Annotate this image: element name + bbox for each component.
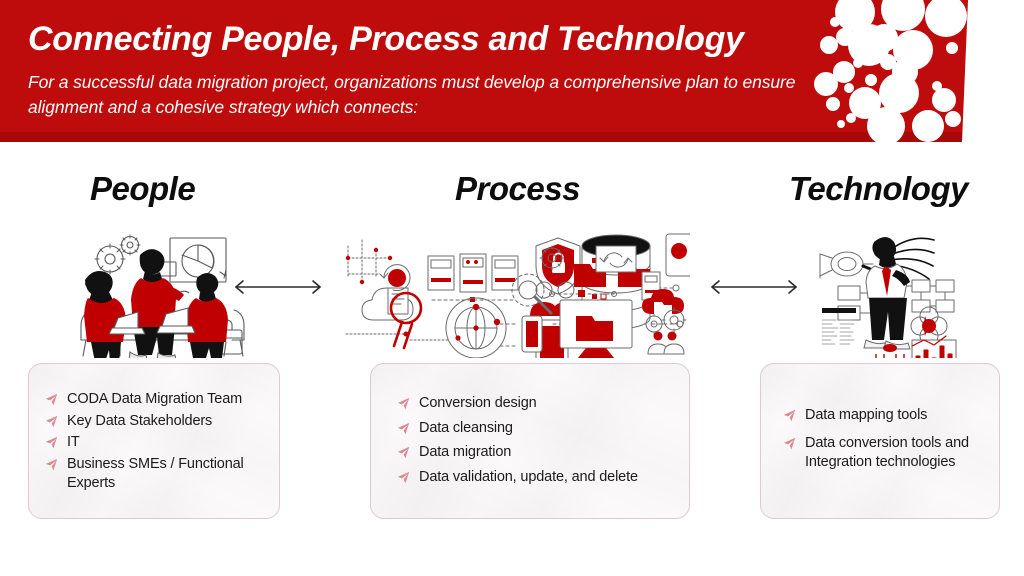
card-people: CODA Data Migration Team Key Data Stakeh…: [28, 363, 280, 519]
list-item: Key Data Stakeholders: [45, 412, 279, 432]
bullet-list-process: Conversion design Data cleansing Data mi…: [371, 364, 689, 487]
list-item-label: Data cleansing: [419, 419, 513, 439]
double-arrow-horizontal-icon: [706, 276, 802, 298]
header-banner: Connecting People, Process and Technolog…: [0, 0, 1024, 146]
list-item-label: Business SMEs / Functional Experts: [67, 455, 279, 494]
list-item-label: Data validation, update, and delete: [419, 468, 638, 488]
paper-plane-icon: [397, 446, 419, 459]
list-item-label: Data migration: [419, 443, 511, 463]
card-process: Conversion design Data cleansing Data mi…: [370, 363, 690, 519]
paper-plane-icon: [783, 437, 805, 450]
technology-person-illustration: [812, 228, 962, 358]
paper-plane-icon: [397, 397, 419, 410]
list-item: CODA Data Migration Team: [45, 390, 279, 410]
list-item: Data conversion tools and Integration te…: [783, 434, 999, 473]
paper-plane-icon: [45, 458, 67, 471]
paper-plane-icon: [45, 415, 67, 428]
card-technology: Data mapping tools Data conversion tools…: [760, 363, 1000, 519]
paper-plane-icon: [397, 422, 419, 435]
paper-plane-icon: [45, 393, 67, 406]
column-heading-process: Process: [455, 170, 580, 208]
list-item: Data mapping tools: [783, 406, 999, 426]
list-item: Data cleansing: [397, 419, 689, 439]
column-heading-technology: Technology: [789, 170, 968, 208]
data-infrastructure-illustration-right: [500, 228, 690, 358]
list-item-label: Data mapping tools: [805, 406, 927, 426]
column-heading-people: People: [90, 170, 195, 208]
bullet-list-technology: Data mapping tools Data conversion tools…: [761, 364, 999, 473]
list-item-label: Conversion design: [419, 394, 537, 414]
list-item: Data migration: [397, 443, 689, 463]
banner-text-block: Connecting People, Process and Technolog…: [28, 20, 828, 121]
paper-plane-icon: [783, 409, 805, 422]
list-item-label: Data conversion tools and Integration te…: [805, 434, 999, 473]
paper-plane-icon: [397, 471, 419, 484]
list-item: Data validation, update, and delete: [397, 468, 689, 488]
list-item: Conversion design: [397, 394, 689, 414]
list-item: IT: [45, 433, 279, 453]
double-arrow-horizontal-icon: [230, 276, 326, 298]
list-item-label: CODA Data Migration Team: [67, 390, 242, 410]
list-item: Business SMEs / Functional Experts: [45, 455, 279, 494]
paper-plane-icon: [45, 436, 67, 449]
list-item-label: IT: [67, 433, 80, 453]
bullet-list-people: CODA Data Migration Team Key Data Stakeh…: [29, 364, 279, 494]
list-item-label: Key Data Stakeholders: [67, 412, 212, 432]
page-subtitle: For a successful data migration project,…: [28, 70, 828, 121]
page-title: Connecting People, Process and Technolog…: [28, 20, 828, 59]
